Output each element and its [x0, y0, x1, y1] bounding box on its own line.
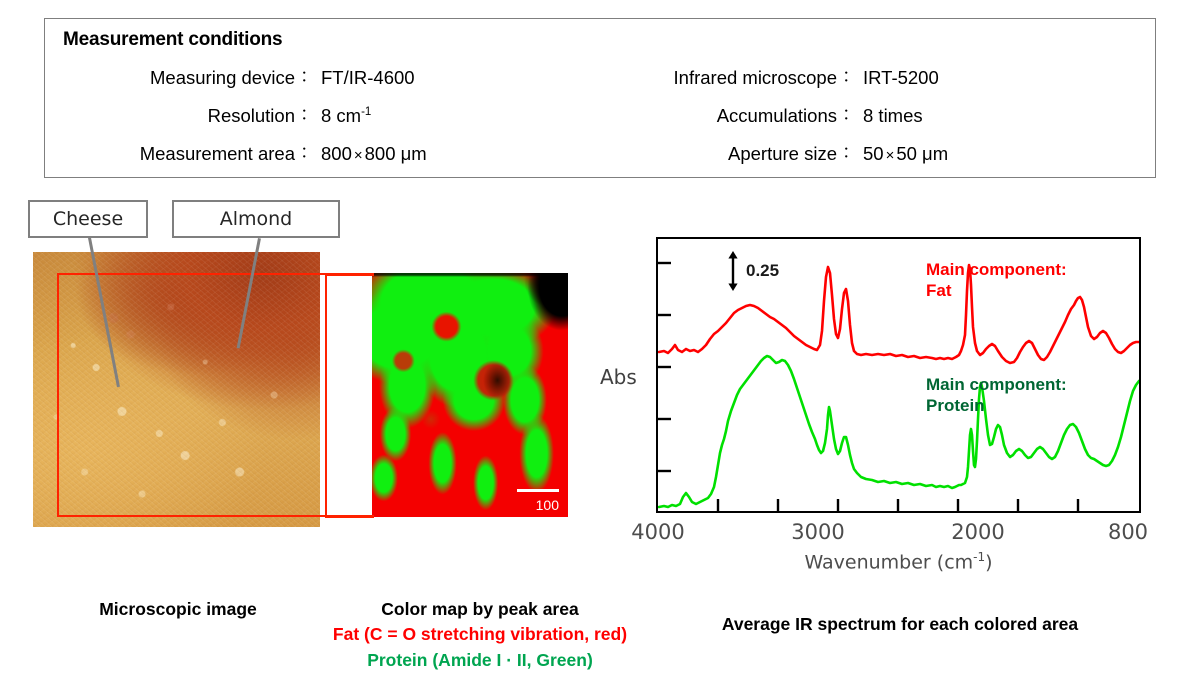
scale-bar-line — [517, 489, 559, 492]
xtick-label-3000: 3000 — [791, 520, 844, 544]
condition-row-accumulations: Accumulations ： 8 times — [605, 105, 1125, 143]
conditions-title: Measurement conditions — [63, 29, 282, 51]
caption-spectrum: Average IR spectrum for each colored are… — [700, 612, 1100, 637]
legend-fat-line1: Main component: — [926, 259, 1067, 280]
plot-frame: 0.25 Main component: Fat Main component:… — [656, 237, 1141, 513]
multiply-symbol: × — [352, 147, 365, 164]
xtick-label-800: 800 — [1108, 520, 1148, 544]
scale-bar-label: 100 — [536, 497, 559, 513]
legend-protein: Main component: Protein — [926, 374, 1067, 417]
condition-value: 800×800 μm — [321, 143, 563, 165]
caption-microscopic-image: Microscopic image — [18, 597, 338, 622]
condition-colon: ： — [295, 65, 321, 86]
y-axis-label: Abs — [600, 365, 637, 389]
peak-area-color-map: 100 — [372, 273, 568, 517]
condition-row-resolution: Resolution ： 8 cm-1 — [63, 105, 563, 143]
condition-value: FT/IR-4600 — [321, 67, 563, 89]
caption-colormap-fat: Fat (C = O stretching vibration, red) — [300, 622, 660, 647]
xtick-label-4000: 4000 — [631, 520, 684, 544]
xtick-label-2000: 2000 — [951, 520, 1004, 544]
condition-label: Measuring device — [63, 67, 295, 89]
x-axis-title-superscript: -1 — [973, 550, 985, 564]
ir-spectrum-chart: Abs — [596, 228, 1156, 568]
caption-colormap-title: Color map by peak area — [300, 597, 660, 622]
condition-row-aperture-size: Aperture size ： 50×50 μm — [605, 143, 1125, 181]
callout-cheese: Cheese — [28, 200, 148, 238]
condition-colon: ： — [295, 141, 321, 162]
condition-value-superscript: -1 — [361, 106, 371, 118]
roi-connector-top — [325, 273, 374, 276]
multiply-symbol: × — [884, 147, 897, 164]
callout-almond: Almond — [172, 200, 340, 238]
caption-colormap: Color map by peak area Fat (C = O stretc… — [300, 597, 660, 673]
condition-colon: ： — [837, 65, 863, 86]
conditions-right-column: Infrared microscope ： IRT-5200 Accumulat… — [605, 67, 1125, 181]
y-axis-ticks — [658, 263, 671, 471]
condition-value: 8 cm-1 — [321, 105, 563, 127]
x-axis-ticks — [718, 499, 1078, 511]
callout-almond-label: Almond — [220, 208, 293, 230]
roi-connector-bottom — [325, 515, 374, 518]
condition-value: 50×50 μm — [863, 143, 1125, 165]
condition-row-infrared-microscope: Infrared microscope ： IRT-5200 — [605, 67, 1125, 105]
condition-row-measuring-device: Measuring device ： FT/IR-4600 — [63, 67, 563, 105]
double-arrow-icon — [726, 251, 740, 291]
condition-value-text: 8 cm — [321, 105, 361, 126]
x-axis-title-close: ) — [985, 551, 992, 573]
condition-value-text: 800 — [321, 143, 352, 164]
legend-protein-line2: Protein — [926, 395, 1067, 416]
callout-cheese-label: Cheese — [53, 208, 123, 230]
colormap-black-corner — [372, 273, 568, 517]
condition-label: Infrared microscope — [605, 67, 837, 89]
condition-value-text: 50 — [863, 143, 884, 164]
condition-colon: ： — [837, 103, 863, 124]
x-axis-title-text: Wavenumber (cm — [804, 551, 973, 573]
condition-value-text-2: 800 μm — [365, 143, 427, 164]
condition-row-measurement-area: Measurement area ： 800×800 μm — [63, 143, 563, 181]
condition-label: Accumulations — [605, 105, 837, 127]
condition-colon: ： — [295, 103, 321, 124]
condition-value: 8 times — [863, 105, 1125, 127]
intensity-scale-annotation: 0.25 — [726, 251, 779, 291]
x-axis-title: Wavenumber (cm-1) — [656, 550, 1141, 573]
legend-fat: Main component: Fat — [926, 259, 1067, 302]
condition-colon: ： — [837, 141, 863, 162]
condition-label: Measurement area — [63, 143, 295, 165]
condition-label: Resolution — [63, 105, 295, 127]
condition-value-text-2: 50 μm — [896, 143, 948, 164]
region-of-interest-rectangle — [57, 273, 327, 517]
conditions-left-column: Measuring device ： FT/IR-4600 Resolution… — [63, 67, 563, 181]
scale-value-label: 0.25 — [746, 261, 779, 281]
condition-label: Aperture size — [605, 143, 837, 165]
condition-value: IRT-5200 — [863, 67, 1125, 89]
spectrum-curve-protein — [659, 356, 1139, 507]
legend-protein-line1: Main component: — [926, 374, 1067, 395]
measurement-conditions-panel: Measurement conditions Measuring device … — [44, 18, 1156, 178]
legend-fat-line2: Fat — [926, 280, 1067, 301]
caption-colormap-protein: Protein (Amide I · II, Green) — [300, 648, 660, 673]
